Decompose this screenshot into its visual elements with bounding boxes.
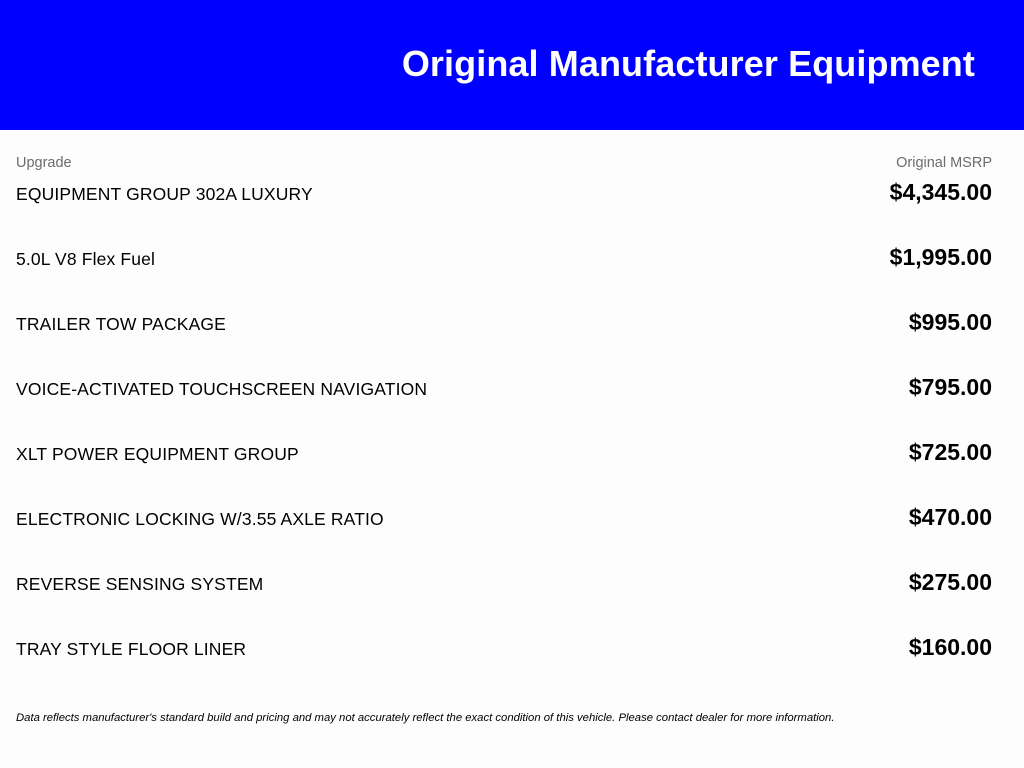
equipment-name: 5.0L V8 Flex Fuel: [16, 242, 890, 270]
table-row: XLT POWER EQUIPMENT GROUP $725.00: [16, 437, 992, 502]
equipment-table: Upgrade Original MSRP EQUIPMENT GROUP 30…: [16, 130, 992, 697]
table-body: EQUIPMENT GROUP 302A LUXURY $4,345.00 5.…: [16, 177, 992, 697]
equipment-page: Original Manufacturer Equipment Upgrade …: [0, 0, 1024, 768]
equipment-name: TRAY STYLE FLOOR LINER: [16, 632, 909, 660]
equipment-name: VOICE-ACTIVATED TOUCHSCREEN NAVIGATION: [16, 372, 909, 400]
equipment-price: $275.00: [909, 567, 992, 595]
equipment-price: $995.00: [909, 307, 992, 335]
equipment-name: TRAILER TOW PACKAGE: [16, 307, 909, 335]
page-header-banner: Original Manufacturer Equipment: [0, 0, 1024, 130]
column-header-original-msrp: Original MSRP: [896, 155, 992, 172]
equipment-price: $1,995.00: [890, 242, 992, 270]
equipment-price: $795.00: [909, 372, 992, 400]
table-header-row: Upgrade Original MSRP: [16, 130, 992, 177]
equipment-price: $470.00: [909, 502, 992, 530]
table-row: 5.0L V8 Flex Fuel $1,995.00: [16, 242, 992, 307]
column-header-upgrade: Upgrade: [16, 155, 72, 172]
equipment-name: REVERSE SENSING SYSTEM: [16, 567, 909, 595]
table-row: VOICE-ACTIVATED TOUCHSCREEN NAVIGATION $…: [16, 372, 992, 437]
equipment-name: ELECTRONIC LOCKING W/3.55 AXLE RATIO: [16, 502, 909, 530]
table-row: TRAY STYLE FLOOR LINER $160.00: [16, 632, 992, 697]
equipment-price: $4,345.00: [890, 177, 992, 205]
equipment-name: XLT POWER EQUIPMENT GROUP: [16, 437, 909, 465]
page-title: Original Manufacturer Equipment: [0, 41, 975, 87]
table-row: TRAILER TOW PACKAGE $995.00: [16, 307, 992, 372]
table-row: REVERSE SENSING SYSTEM $275.00: [16, 567, 992, 632]
equipment-price: $725.00: [909, 437, 992, 465]
equipment-price: $160.00: [909, 632, 992, 660]
table-row: ELECTRONIC LOCKING W/3.55 AXLE RATIO $47…: [16, 502, 992, 567]
equipment-name: EQUIPMENT GROUP 302A LUXURY: [16, 177, 890, 205]
table-row: EQUIPMENT GROUP 302A LUXURY $4,345.00: [16, 177, 992, 242]
disclaimer-text: Data reflects manufacturer's standard bu…: [16, 711, 992, 726]
